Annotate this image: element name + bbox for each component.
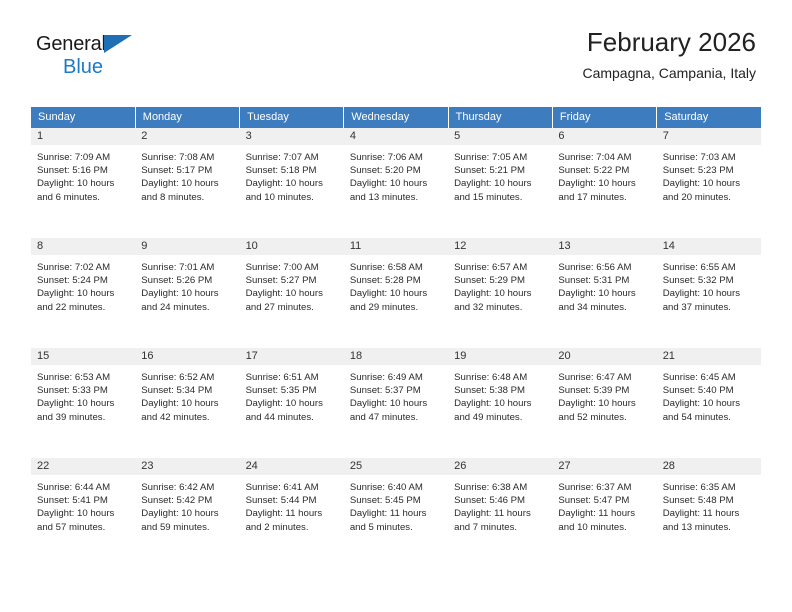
day-cell-details: Sunrise: 6:42 AMSunset: 5:42 PMDaylight:… (135, 475, 239, 534)
daylight-text: Daylight: 10 hours and 20 minutes. (663, 177, 755, 203)
weekday-header-tuesday: Tuesday (240, 107, 344, 128)
brand-name-bottom: Blue (63, 57, 156, 77)
daylight-text: Daylight: 10 hours and 32 minutes. (454, 287, 546, 313)
day-cell-details: Sunrise: 6:40 AMSunset: 5:45 PMDaylight:… (344, 475, 448, 534)
sunset-text: Sunset: 5:45 PM (350, 494, 442, 507)
calendar-day-cell[interactable]: 8Sunrise: 7:02 AMSunset: 5:24 PMDaylight… (31, 238, 135, 348)
day-cell-inner: 14Sunrise: 6:55 AMSunset: 5:32 PMDayligh… (657, 238, 761, 348)
day-number: 12 (448, 238, 552, 255)
day-number: 11 (344, 238, 448, 255)
daylight-text: Daylight: 10 hours and 29 minutes. (350, 287, 442, 313)
sunrise-text: Sunrise: 7:01 AM (141, 261, 233, 274)
day-cell-details: Sunrise: 6:38 AMSunset: 5:46 PMDaylight:… (448, 475, 552, 534)
daylight-text: Daylight: 11 hours and 5 minutes. (350, 507, 442, 533)
daylight-text: Daylight: 11 hours and 7 minutes. (454, 507, 546, 533)
calendar-week-row: 8Sunrise: 7:02 AMSunset: 5:24 PMDaylight… (31, 238, 761, 348)
sunset-text: Sunset: 5:20 PM (350, 164, 442, 177)
calendar-day-cell[interactable]: 22Sunrise: 6:44 AMSunset: 5:41 PMDayligh… (31, 458, 135, 568)
weekday-header-wednesday: Wednesday (344, 107, 448, 128)
calendar-day-cell[interactable]: 11Sunrise: 6:58 AMSunset: 5:28 PMDayligh… (344, 238, 448, 348)
calendar-page: General Blue February 2026 Campagna, Cam… (0, 0, 792, 612)
day-cell-details: Sunrise: 7:03 AMSunset: 5:23 PMDaylight:… (657, 145, 761, 204)
day-cell-details: Sunrise: 6:35 AMSunset: 5:48 PMDaylight:… (657, 475, 761, 534)
calendar-day-cell[interactable]: 18Sunrise: 6:49 AMSunset: 5:37 PMDayligh… (344, 348, 448, 458)
sunrise-text: Sunrise: 6:45 AM (663, 371, 755, 384)
daylight-text: Daylight: 10 hours and 24 minutes. (141, 287, 233, 313)
day-cell-inner: 16Sunrise: 6:52 AMSunset: 5:34 PMDayligh… (135, 348, 239, 458)
sunrise-text: Sunrise: 7:02 AM (37, 261, 129, 274)
weekday-header-monday: Monday (135, 107, 239, 128)
day-number: 14 (657, 238, 761, 255)
calendar-week-row: 1Sunrise: 7:09 AMSunset: 5:16 PMDaylight… (31, 128, 761, 238)
day-number: 8 (31, 238, 135, 255)
day-number: 24 (240, 458, 344, 475)
calendar-day-cell[interactable]: 1Sunrise: 7:09 AMSunset: 5:16 PMDaylight… (31, 128, 135, 238)
daylight-text: Daylight: 11 hours and 10 minutes. (558, 507, 650, 533)
sunset-text: Sunset: 5:41 PM (37, 494, 129, 507)
calendar-day-cell[interactable]: 5Sunrise: 7:05 AMSunset: 5:21 PMDaylight… (448, 128, 552, 238)
sunset-text: Sunset: 5:37 PM (350, 384, 442, 397)
day-cell-inner: 1Sunrise: 7:09 AMSunset: 5:16 PMDaylight… (31, 128, 135, 238)
day-cell-inner: 21Sunrise: 6:45 AMSunset: 5:40 PMDayligh… (657, 348, 761, 458)
daylight-text: Daylight: 10 hours and 59 minutes. (141, 507, 233, 533)
day-cell-inner: 27Sunrise: 6:37 AMSunset: 5:47 PMDayligh… (552, 458, 656, 568)
calendar-day-cell[interactable]: 24Sunrise: 6:41 AMSunset: 5:44 PMDayligh… (240, 458, 344, 568)
sunset-text: Sunset: 5:33 PM (37, 384, 129, 397)
day-number: 9 (135, 238, 239, 255)
calendar-day-cell[interactable]: 16Sunrise: 6:52 AMSunset: 5:34 PMDayligh… (135, 348, 239, 458)
sunset-text: Sunset: 5:16 PM (37, 164, 129, 177)
sunset-text: Sunset: 5:27 PM (246, 274, 338, 287)
weekday-header-thursday: Thursday (448, 107, 552, 128)
day-cell-details: Sunrise: 7:01 AMSunset: 5:26 PMDaylight:… (135, 255, 239, 314)
calendar-day-cell[interactable]: 7Sunrise: 7:03 AMSunset: 5:23 PMDaylight… (657, 128, 761, 238)
day-cell-inner: 22Sunrise: 6:44 AMSunset: 5:41 PMDayligh… (31, 458, 135, 568)
sunrise-text: Sunrise: 7:07 AM (246, 151, 338, 164)
page-header: General Blue February 2026 Campagna, Cam… (0, 26, 792, 96)
day-number: 18 (344, 348, 448, 365)
sunrise-text: Sunrise: 6:47 AM (558, 371, 650, 384)
sunset-text: Sunset: 5:26 PM (141, 274, 233, 287)
sunrise-text: Sunrise: 6:38 AM (454, 481, 546, 494)
calendar-day-cell[interactable]: 2Sunrise: 7:08 AMSunset: 5:17 PMDaylight… (135, 128, 239, 238)
month-calendar: Sunday Monday Tuesday Wednesday Thursday… (31, 107, 761, 568)
daylight-text: Daylight: 11 hours and 13 minutes. (663, 507, 755, 533)
daylight-text: Daylight: 10 hours and 27 minutes. (246, 287, 338, 313)
day-number: 19 (448, 348, 552, 365)
day-cell-inner: 17Sunrise: 6:51 AMSunset: 5:35 PMDayligh… (240, 348, 344, 458)
calendar-body: 1Sunrise: 7:09 AMSunset: 5:16 PMDaylight… (31, 128, 761, 568)
day-cell-details: Sunrise: 6:41 AMSunset: 5:44 PMDaylight:… (240, 475, 344, 534)
triangle-icon (104, 35, 132, 53)
day-cell-details: Sunrise: 7:05 AMSunset: 5:21 PMDaylight:… (448, 145, 552, 204)
day-number: 1 (31, 128, 135, 145)
calendar-day-cell[interactable]: 3Sunrise: 7:07 AMSunset: 5:18 PMDaylight… (240, 128, 344, 238)
day-cell-details: Sunrise: 7:08 AMSunset: 5:17 PMDaylight:… (135, 145, 239, 204)
day-cell-inner: 15Sunrise: 6:53 AMSunset: 5:33 PMDayligh… (31, 348, 135, 458)
daylight-text: Daylight: 10 hours and 42 minutes. (141, 397, 233, 423)
sunrise-text: Sunrise: 6:41 AM (246, 481, 338, 494)
sunrise-text: Sunrise: 6:37 AM (558, 481, 650, 494)
page-title: February 2026 (582, 26, 756, 58)
sunset-text: Sunset: 5:39 PM (558, 384, 650, 397)
sunrise-text: Sunrise: 6:35 AM (663, 481, 755, 494)
daylight-text: Daylight: 10 hours and 54 minutes. (663, 397, 755, 423)
day-number: 27 (552, 458, 656, 475)
sunrise-text: Sunrise: 6:51 AM (246, 371, 338, 384)
sunset-text: Sunset: 5:47 PM (558, 494, 650, 507)
day-cell-inner: 5Sunrise: 7:05 AMSunset: 5:21 PMDaylight… (448, 128, 552, 238)
calendar-day-cell[interactable]: 13Sunrise: 6:56 AMSunset: 5:31 PMDayligh… (552, 238, 656, 348)
day-cell-inner: 26Sunrise: 6:38 AMSunset: 5:46 PMDayligh… (448, 458, 552, 568)
day-number: 7 (657, 128, 761, 145)
day-cell-inner: 11Sunrise: 6:58 AMSunset: 5:28 PMDayligh… (344, 238, 448, 348)
sunset-text: Sunset: 5:21 PM (454, 164, 546, 177)
day-cell-inner: 2Sunrise: 7:08 AMSunset: 5:17 PMDaylight… (135, 128, 239, 238)
weekday-header-row: Sunday Monday Tuesday Wednesday Thursday… (31, 107, 761, 128)
sunset-text: Sunset: 5:22 PM (558, 164, 650, 177)
day-number: 21 (657, 348, 761, 365)
day-number: 6 (552, 128, 656, 145)
sunset-text: Sunset: 5:32 PM (663, 274, 755, 287)
sunrise-text: Sunrise: 6:53 AM (37, 371, 129, 384)
sunset-text: Sunset: 5:48 PM (663, 494, 755, 507)
day-cell-inner: 4Sunrise: 7:06 AMSunset: 5:20 PMDaylight… (344, 128, 448, 238)
sunset-text: Sunset: 5:17 PM (141, 164, 233, 177)
daylight-text: Daylight: 10 hours and 22 minutes. (37, 287, 129, 313)
day-cell-details: Sunrise: 6:55 AMSunset: 5:32 PMDaylight:… (657, 255, 761, 314)
daylight-text: Daylight: 10 hours and 49 minutes. (454, 397, 546, 423)
calendar-day-cell[interactable]: 28Sunrise: 6:35 AMSunset: 5:48 PMDayligh… (657, 458, 761, 568)
day-number: 25 (344, 458, 448, 475)
day-cell-details: Sunrise: 6:57 AMSunset: 5:29 PMDaylight:… (448, 255, 552, 314)
sunrise-text: Sunrise: 7:03 AM (663, 151, 755, 164)
day-number: 26 (448, 458, 552, 475)
brand-logo[interactable]: General Blue (36, 26, 156, 72)
day-cell-inner: 24Sunrise: 6:41 AMSunset: 5:44 PMDayligh… (240, 458, 344, 568)
sunset-text: Sunset: 5:18 PM (246, 164, 338, 177)
day-number: 15 (31, 348, 135, 365)
calendar-day-cell[interactable]: 6Sunrise: 7:04 AMSunset: 5:22 PMDaylight… (552, 128, 656, 238)
sunset-text: Sunset: 5:23 PM (663, 164, 755, 177)
sunset-text: Sunset: 5:28 PM (350, 274, 442, 287)
weekday-header-friday: Friday (552, 107, 656, 128)
day-cell-inner: 3Sunrise: 7:07 AMSunset: 5:18 PMDaylight… (240, 128, 344, 238)
day-number: 13 (552, 238, 656, 255)
daylight-text: Daylight: 10 hours and 37 minutes. (663, 287, 755, 313)
day-cell-inner: 8Sunrise: 7:02 AMSunset: 5:24 PMDaylight… (31, 238, 135, 348)
calendar-day-cell[interactable]: 25Sunrise: 6:40 AMSunset: 5:45 PMDayligh… (344, 458, 448, 568)
sunrise-text: Sunrise: 6:49 AM (350, 371, 442, 384)
calendar-day-cell[interactable]: 21Sunrise: 6:45 AMSunset: 5:40 PMDayligh… (657, 348, 761, 458)
sunrise-text: Sunrise: 7:08 AM (141, 151, 233, 164)
day-cell-inner: 20Sunrise: 6:47 AMSunset: 5:39 PMDayligh… (552, 348, 656, 458)
day-cell-inner: 12Sunrise: 6:57 AMSunset: 5:29 PMDayligh… (448, 238, 552, 348)
day-cell-details: Sunrise: 6:44 AMSunset: 5:41 PMDaylight:… (31, 475, 135, 534)
day-number: 23 (135, 458, 239, 475)
sunset-text: Sunset: 5:24 PM (37, 274, 129, 287)
sunrise-text: Sunrise: 6:52 AM (141, 371, 233, 384)
day-cell-details: Sunrise: 7:02 AMSunset: 5:24 PMDaylight:… (31, 255, 135, 314)
sunrise-text: Sunrise: 6:55 AM (663, 261, 755, 274)
day-cell-inner: 28Sunrise: 6:35 AMSunset: 5:48 PMDayligh… (657, 458, 761, 568)
title-block: February 2026 Campagna, Campania, Italy (582, 26, 756, 83)
daylight-text: Daylight: 10 hours and 47 minutes. (350, 397, 442, 423)
calendar-day-cell[interactable]: 10Sunrise: 7:00 AMSunset: 5:27 PMDayligh… (240, 238, 344, 348)
calendar-day-cell[interactable]: 20Sunrise: 6:47 AMSunset: 5:39 PMDayligh… (552, 348, 656, 458)
sunrise-text: Sunrise: 7:05 AM (454, 151, 546, 164)
day-cell-details: Sunrise: 6:56 AMSunset: 5:31 PMDaylight:… (552, 255, 656, 314)
sunrise-text: Sunrise: 6:42 AM (141, 481, 233, 494)
sunset-text: Sunset: 5:40 PM (663, 384, 755, 397)
sunrise-text: Sunrise: 6:58 AM (350, 261, 442, 274)
sunset-text: Sunset: 5:31 PM (558, 274, 650, 287)
day-cell-details: Sunrise: 7:07 AMSunset: 5:18 PMDaylight:… (240, 145, 344, 204)
calendar-week-row: 22Sunrise: 6:44 AMSunset: 5:41 PMDayligh… (31, 458, 761, 568)
day-cell-inner: 23Sunrise: 6:42 AMSunset: 5:42 PMDayligh… (135, 458, 239, 568)
day-cell-details: Sunrise: 6:49 AMSunset: 5:37 PMDaylight:… (344, 365, 448, 424)
sunrise-text: Sunrise: 6:56 AM (558, 261, 650, 274)
calendar-day-cell[interactable]: 15Sunrise: 6:53 AMSunset: 5:33 PMDayligh… (31, 348, 135, 458)
day-cell-details: Sunrise: 6:51 AMSunset: 5:35 PMDaylight:… (240, 365, 344, 424)
day-cell-details: Sunrise: 6:45 AMSunset: 5:40 PMDaylight:… (657, 365, 761, 424)
day-cell-details: Sunrise: 6:48 AMSunset: 5:38 PMDaylight:… (448, 365, 552, 424)
day-cell-inner: 7Sunrise: 7:03 AMSunset: 5:23 PMDaylight… (657, 128, 761, 238)
day-cell-details: Sunrise: 6:52 AMSunset: 5:34 PMDaylight:… (135, 365, 239, 424)
calendar-day-cell[interactable]: 27Sunrise: 6:37 AMSunset: 5:47 PMDayligh… (552, 458, 656, 568)
calendar-day-cell[interactable]: 23Sunrise: 6:42 AMSunset: 5:42 PMDayligh… (135, 458, 239, 568)
day-cell-details: Sunrise: 7:04 AMSunset: 5:22 PMDaylight:… (552, 145, 656, 204)
day-cell-details: Sunrise: 6:47 AMSunset: 5:39 PMDaylight:… (552, 365, 656, 424)
day-number: 17 (240, 348, 344, 365)
daylight-text: Daylight: 10 hours and 44 minutes. (246, 397, 338, 423)
daylight-text: Daylight: 10 hours and 57 minutes. (37, 507, 129, 533)
day-number: 5 (448, 128, 552, 145)
daylight-text: Daylight: 10 hours and 10 minutes. (246, 177, 338, 203)
sunrise-text: Sunrise: 7:09 AM (37, 151, 129, 164)
daylight-text: Daylight: 11 hours and 2 minutes. (246, 507, 338, 533)
day-number: 3 (240, 128, 344, 145)
daylight-text: Daylight: 10 hours and 15 minutes. (454, 177, 546, 203)
sunrise-text: Sunrise: 7:00 AM (246, 261, 338, 274)
daylight-text: Daylight: 10 hours and 17 minutes. (558, 177, 650, 203)
calendar-day-cell[interactable]: 4Sunrise: 7:06 AMSunset: 5:20 PMDaylight… (344, 128, 448, 238)
sunset-text: Sunset: 5:35 PM (246, 384, 338, 397)
day-number: 28 (657, 458, 761, 475)
calendar-day-cell[interactable]: 19Sunrise: 6:48 AMSunset: 5:38 PMDayligh… (448, 348, 552, 458)
daylight-text: Daylight: 10 hours and 13 minutes. (350, 177, 442, 203)
day-cell-details: Sunrise: 7:09 AMSunset: 5:16 PMDaylight:… (31, 145, 135, 204)
day-cell-inner: 13Sunrise: 6:56 AMSunset: 5:31 PMDayligh… (552, 238, 656, 348)
sunrise-text: Sunrise: 6:48 AM (454, 371, 546, 384)
day-number: 16 (135, 348, 239, 365)
sunrise-text: Sunrise: 7:06 AM (350, 151, 442, 164)
daylight-text: Daylight: 10 hours and 8 minutes. (141, 177, 233, 203)
day-number: 22 (31, 458, 135, 475)
weekday-header-sunday: Sunday (31, 107, 135, 128)
daylight-text: Daylight: 10 hours and 52 minutes. (558, 397, 650, 423)
day-cell-details: Sunrise: 6:53 AMSunset: 5:33 PMDaylight:… (31, 365, 135, 424)
day-number: 10 (240, 238, 344, 255)
calendar-day-cell[interactable]: 12Sunrise: 6:57 AMSunset: 5:29 PMDayligh… (448, 238, 552, 348)
sunset-text: Sunset: 5:34 PM (141, 384, 233, 397)
sunset-text: Sunset: 5:42 PM (141, 494, 233, 507)
day-cell-inner: 9Sunrise: 7:01 AMSunset: 5:26 PMDaylight… (135, 238, 239, 348)
sunrise-text: Sunrise: 6:44 AM (37, 481, 129, 494)
calendar-day-cell[interactable]: 14Sunrise: 6:55 AMSunset: 5:32 PMDayligh… (657, 238, 761, 348)
calendar-day-cell[interactable]: 17Sunrise: 6:51 AMSunset: 5:35 PMDayligh… (240, 348, 344, 458)
sunrise-text: Sunrise: 6:57 AM (454, 261, 546, 274)
day-cell-details: Sunrise: 6:58 AMSunset: 5:28 PMDaylight:… (344, 255, 448, 314)
day-cell-inner: 25Sunrise: 6:40 AMSunset: 5:45 PMDayligh… (344, 458, 448, 568)
day-number: 2 (135, 128, 239, 145)
sunset-text: Sunset: 5:29 PM (454, 274, 546, 287)
daylight-text: Daylight: 10 hours and 6 minutes. (37, 177, 129, 203)
weekday-header-saturday: Saturday (657, 107, 761, 128)
sunrise-text: Sunrise: 7:04 AM (558, 151, 650, 164)
day-cell-inner: 10Sunrise: 7:00 AMSunset: 5:27 PMDayligh… (240, 238, 344, 348)
page-subtitle: Campagna, Campania, Italy (582, 63, 756, 83)
calendar-day-cell[interactable]: 9Sunrise: 7:01 AMSunset: 5:26 PMDaylight… (135, 238, 239, 348)
sunset-text: Sunset: 5:44 PM (246, 494, 338, 507)
sunset-text: Sunset: 5:38 PM (454, 384, 546, 397)
brand-name-top: General (36, 33, 106, 55)
daylight-text: Daylight: 10 hours and 34 minutes. (558, 287, 650, 313)
day-cell-inner: 19Sunrise: 6:48 AMSunset: 5:38 PMDayligh… (448, 348, 552, 458)
sunset-text: Sunset: 5:46 PM (454, 494, 546, 507)
daylight-text: Daylight: 10 hours and 39 minutes. (37, 397, 129, 423)
day-cell-details: Sunrise: 7:06 AMSunset: 5:20 PMDaylight:… (344, 145, 448, 204)
calendar-week-row: 15Sunrise: 6:53 AMSunset: 5:33 PMDayligh… (31, 348, 761, 458)
sunrise-text: Sunrise: 6:40 AM (350, 481, 442, 494)
day-cell-details: Sunrise: 6:37 AMSunset: 5:47 PMDaylight:… (552, 475, 656, 534)
day-cell-details: Sunrise: 7:00 AMSunset: 5:27 PMDaylight:… (240, 255, 344, 314)
day-cell-inner: 18Sunrise: 6:49 AMSunset: 5:37 PMDayligh… (344, 348, 448, 458)
day-number: 4 (344, 128, 448, 145)
calendar-day-cell[interactable]: 26Sunrise: 6:38 AMSunset: 5:46 PMDayligh… (448, 458, 552, 568)
day-number: 20 (552, 348, 656, 365)
day-cell-inner: 6Sunrise: 7:04 AMSunset: 5:22 PMDaylight… (552, 128, 656, 238)
